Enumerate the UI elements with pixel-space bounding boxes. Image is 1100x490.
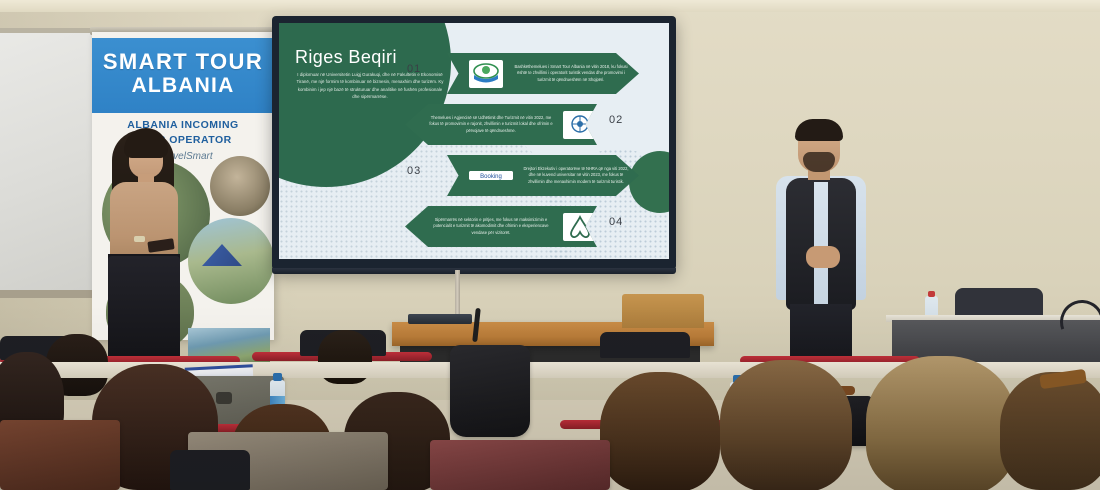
bag-clasp xyxy=(216,392,232,404)
slide-step-2: 02 Themelues i Agjencisë së Udhëtimit dh… xyxy=(399,102,669,149)
tv-screen: Riges Beqiri I diplomuar në Universiteti… xyxy=(279,23,669,259)
presenter-watch xyxy=(134,236,145,242)
step-arrow-4: Sipërmarrës në sektorin e pritjes, me fo… xyxy=(405,206,597,247)
presenter-beard xyxy=(803,152,835,172)
presentation-slide: Riges Beqiri I diplomuar në Universiteti… xyxy=(279,23,669,259)
classroom-scene: SMART TOUR ALBANIA ALBANIA INCOMING TOUR… xyxy=(0,0,1100,490)
logo-glyph xyxy=(563,111,597,139)
tv-bottom-edge xyxy=(272,268,676,274)
chair-back xyxy=(600,332,690,358)
banner-title-line2: ALBANIA xyxy=(132,73,235,99)
svg-text:Booking: Booking xyxy=(480,174,502,180)
logo-glyph: Booking xyxy=(469,171,513,180)
slide-step-list: 01 Bashkëthemelues i Smart Tour Albania … xyxy=(399,51,669,255)
audience-head xyxy=(866,356,1016,490)
step-text-3: Drejtori Ekzekutiv i operatorëve të NHRA… xyxy=(513,166,639,184)
female-presenter xyxy=(96,128,192,358)
closed-laptop xyxy=(408,314,472,324)
step-number-4: 04 xyxy=(609,216,623,228)
presenter-hands xyxy=(806,246,840,268)
slide-step-3: 03 Booking Drejtori Ekzekutiv i operator… xyxy=(399,153,669,200)
presenter-skirt xyxy=(108,256,180,360)
ceiling-edge xyxy=(0,0,1100,12)
banner-title-line1: SMART TOUR xyxy=(103,51,263,73)
presenter-hair xyxy=(795,119,843,141)
audience-head xyxy=(720,360,852,490)
chair-back xyxy=(170,450,250,490)
bottle-cap xyxy=(273,373,282,381)
step-arrow-1: Bashkëthemelues i Smart Tour Albania në … xyxy=(447,53,639,94)
step-number-1: 01 xyxy=(407,63,421,75)
wall-mounted-television: Riges Beqiri I diplomuar në Universiteti… xyxy=(272,16,676,270)
airbnb-logo xyxy=(563,213,597,241)
logo-glyph xyxy=(469,60,503,88)
step-arrow-3: Booking Drejtori Ekzekutiv i operatorëve… xyxy=(447,155,639,196)
logo-glyph xyxy=(563,213,597,241)
banner-header: SMART TOUR ALBANIA xyxy=(92,38,274,113)
step-number-2: 02 xyxy=(609,114,623,126)
step-text-1: Bashkëthemelues i Smart Tour Albania në … xyxy=(503,64,639,82)
wooden-chair xyxy=(622,294,704,328)
unwto-logo xyxy=(563,111,597,139)
booking-logo: Booking xyxy=(469,171,513,180)
slide-step-1: 01 Bashkëthemelues i Smart Tour Albania … xyxy=(399,51,669,98)
handbag xyxy=(450,345,530,437)
audience-head xyxy=(600,372,720,490)
presenter-pants xyxy=(790,304,852,364)
whiteboard-tray xyxy=(0,290,102,298)
step-text-4: Sipërmarrës në sektorin e pritjes, me fo… xyxy=(419,217,563,235)
male-presenter xyxy=(762,122,880,362)
step-text-2: Themelues i Agjencisë së Udhëtimit dhe T… xyxy=(419,115,563,133)
whiteboard xyxy=(0,33,99,298)
presenter-hair-front xyxy=(124,128,168,158)
audience-head xyxy=(1000,372,1100,490)
banner-photo-hiker xyxy=(210,156,270,216)
slide-step-4: 04 Sipërmarrës në sektorin e pritjes, me… xyxy=(399,204,669,251)
handbag xyxy=(0,420,120,490)
step-number-3: 03 xyxy=(407,165,421,177)
step-arrow-2: Themelues i Agjencisë së Udhëtimit dhe T… xyxy=(405,104,597,145)
smart-tour-albania-logo xyxy=(469,60,503,88)
handbag xyxy=(430,440,610,490)
presenter-shirt-front xyxy=(814,182,828,308)
